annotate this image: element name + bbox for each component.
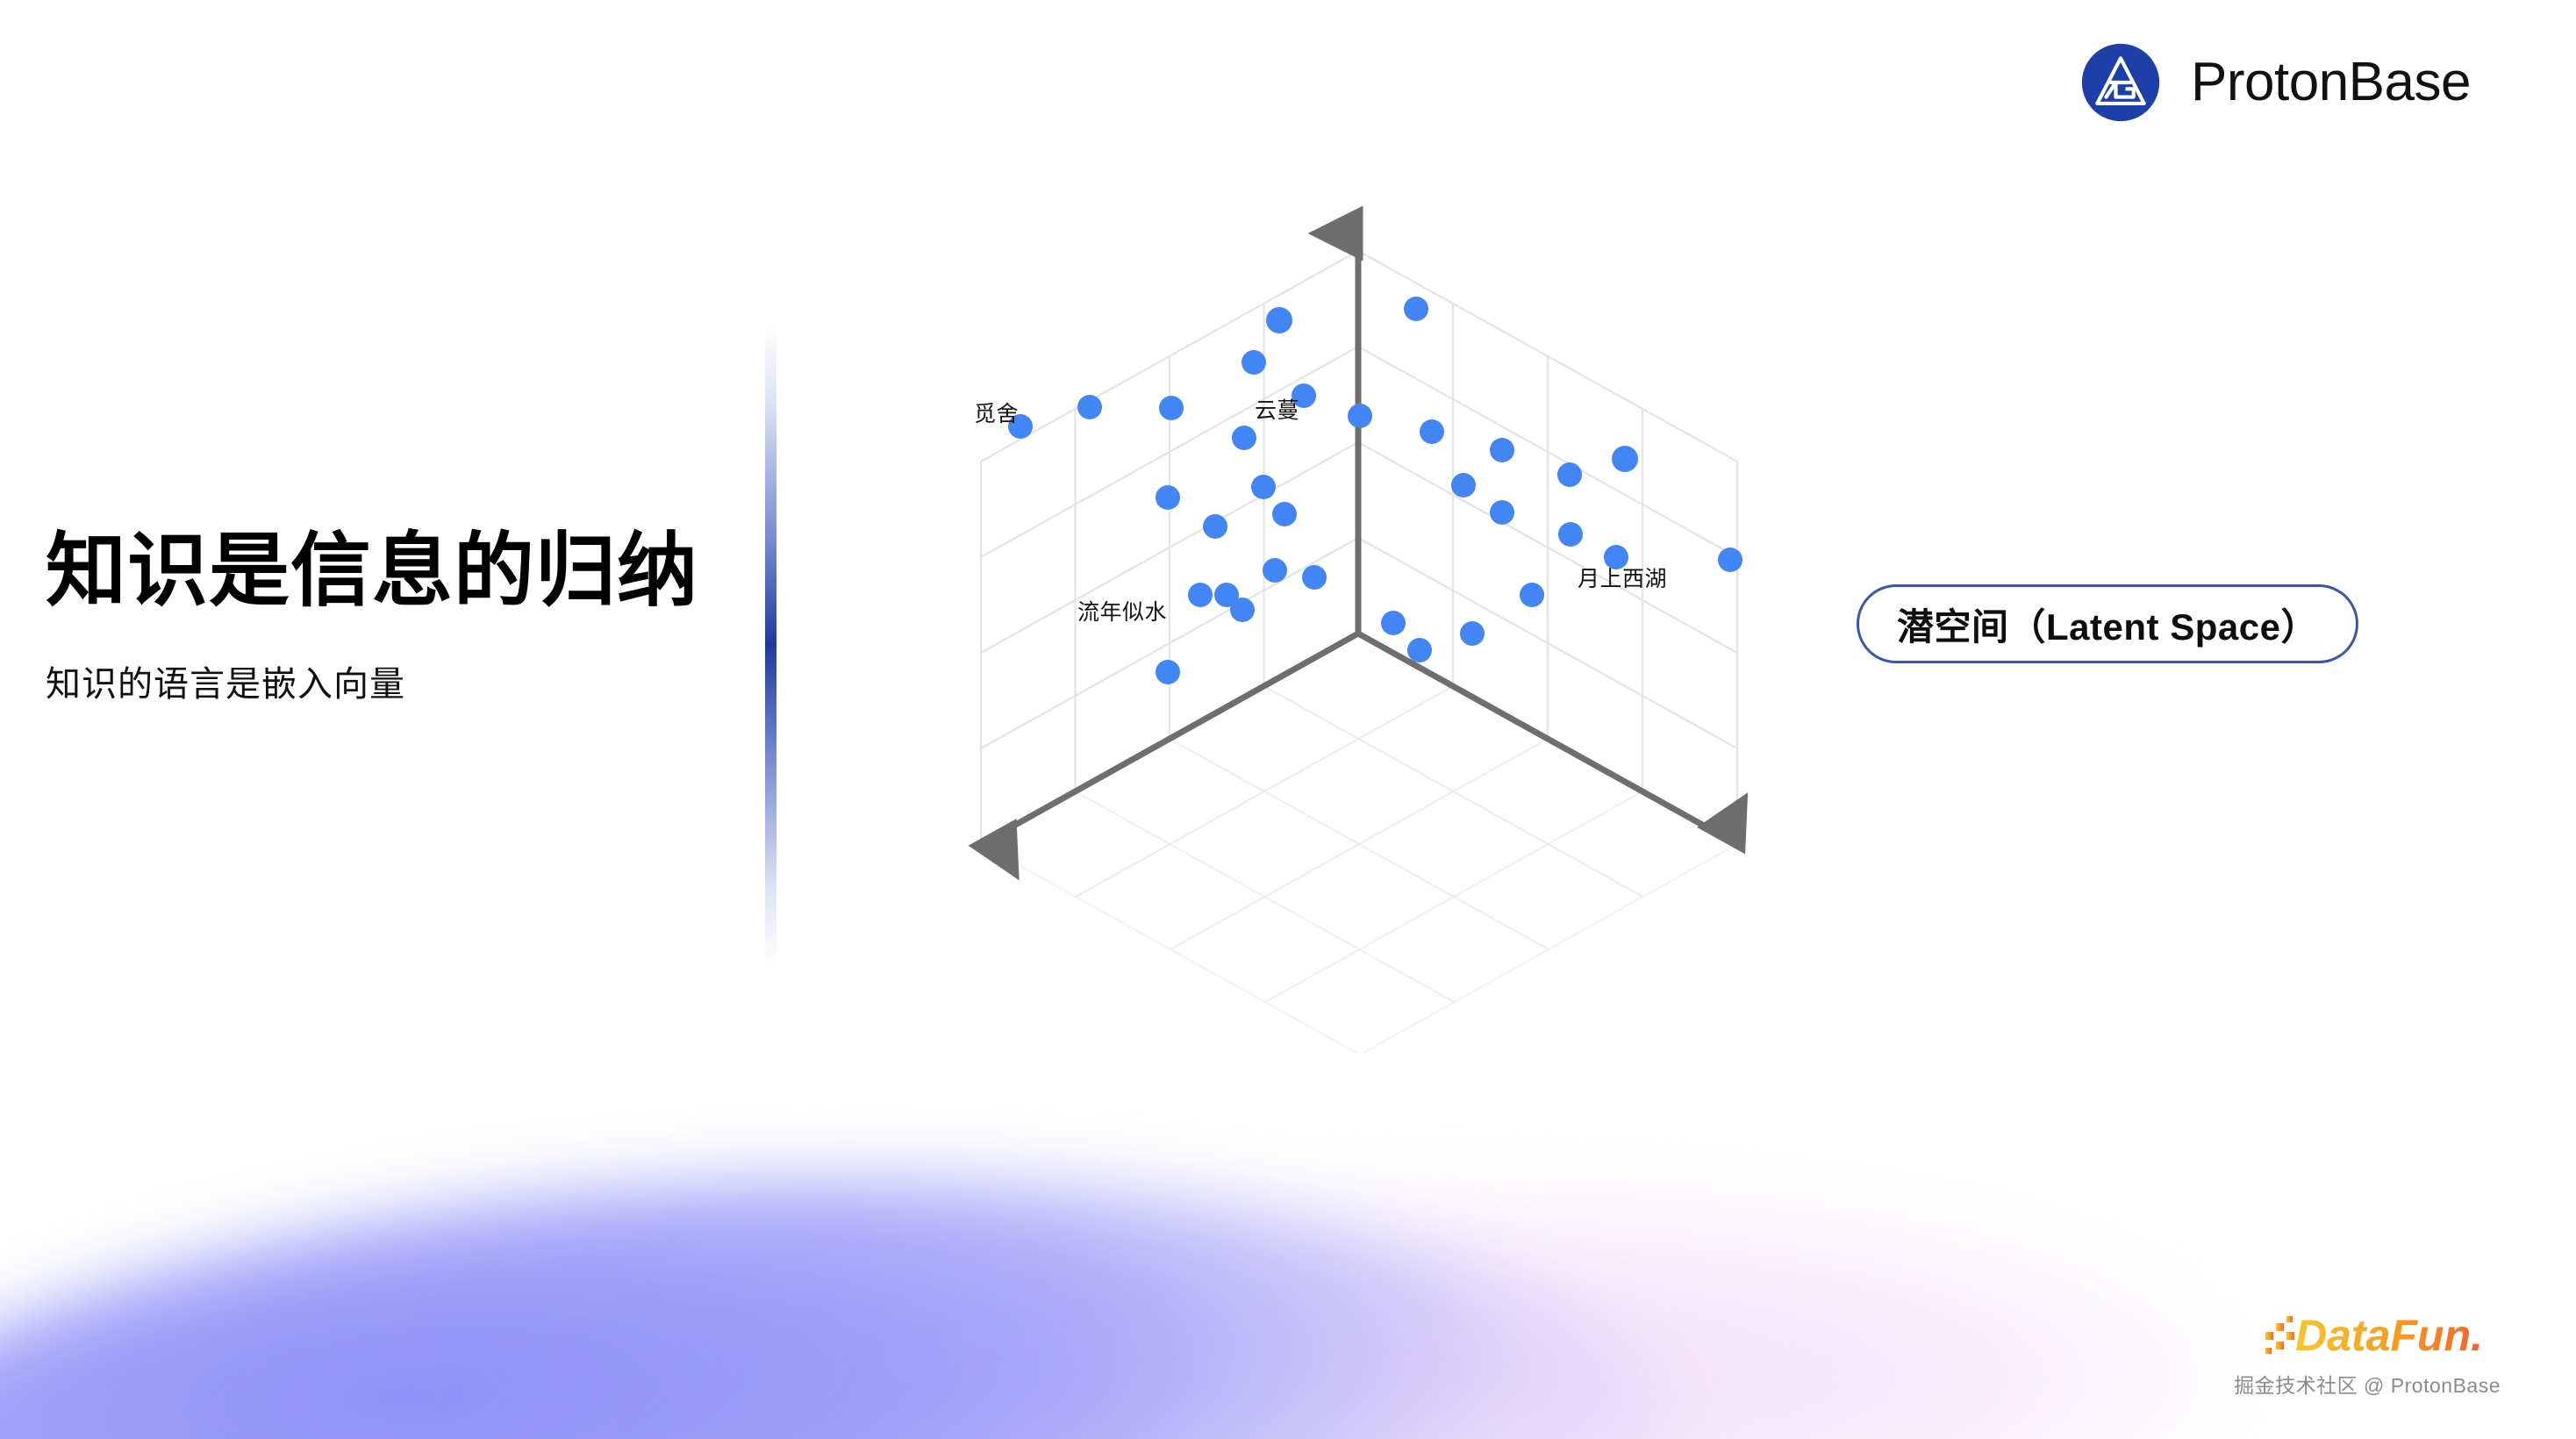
datafun-watermark: DataFun. 掘金技术社区 @ ProtonBase <box>2234 1309 2501 1399</box>
axes-group <box>995 233 1724 836</box>
scatter-point <box>1251 475 1276 499</box>
scatter-point <box>1420 419 1444 444</box>
datafun-logo-text: DataFun. <box>2295 1311 2483 1360</box>
latent-space-badge[interactable]: 潜空间（Latent Space） <box>1857 584 2358 663</box>
protonbase-triangle-logo-icon <box>2080 42 2161 123</box>
scatter-point <box>1557 462 1582 487</box>
cluster-label-1: 云蔓 <box>1255 393 1299 425</box>
scatter-point <box>1381 611 1406 635</box>
scatter-point <box>1230 598 1255 622</box>
brand-name: ProtonBase <box>2191 55 2471 110</box>
datafun-logo-icon: DataFun. <box>2264 1309 2501 1364</box>
bottom-gradient-decoration <box>0 1070 2576 1439</box>
scatter-svg <box>912 175 1807 1053</box>
scatter-point <box>1203 514 1227 539</box>
scatter-point <box>1460 621 1485 646</box>
scatter-point <box>1718 548 1742 572</box>
pink-haze-shape <box>684 1193 2220 1439</box>
scatter-point <box>1156 485 1180 510</box>
scatter-point <box>1404 297 1428 321</box>
headline-block: 知识是信息的归纳 知识的语言是嵌入向量 <box>46 526 739 706</box>
scatter-point <box>1490 500 1514 525</box>
cluster-label-0: 觅舍 <box>974 397 1019 428</box>
grid-floor <box>981 686 1737 1053</box>
accent-bar <box>765 325 776 965</box>
scatter-point <box>1558 522 1583 547</box>
scatter-point <box>1302 565 1327 590</box>
scatter-point <box>1232 426 1256 450</box>
latent-space-scatter-figure: 觅舍 云蔓 流年似水 月上西湖 <box>912 175 1807 1053</box>
axis-y <box>1358 634 1723 836</box>
scatter-point <box>1188 583 1213 607</box>
grid-left-wall <box>981 251 1358 844</box>
blue-wave-shape <box>0 1118 1684 1439</box>
slide-root: ProtonBase 知识是信息的归纳 知识的语言是嵌入向量 潜空间（Laten… <box>0 0 2576 1439</box>
scatter-point <box>1159 396 1184 420</box>
scatter-point <box>1077 395 1102 419</box>
scatter-point <box>1156 660 1180 684</box>
scatter-point <box>1263 558 1287 583</box>
scatter-point <box>1348 404 1372 428</box>
cluster-label-3: 月上西湖 <box>1578 562 1667 593</box>
watermark-subtitle: 掘金技术社区 @ ProtonBase <box>2234 1369 2501 1399</box>
scatter-point <box>1241 350 1266 375</box>
lilac-haze-shape <box>158 1211 1386 1439</box>
grid-right-wall <box>1358 251 1737 844</box>
latent-space-badge-label: 潜空间（Latent Space） <box>1897 598 2318 651</box>
page-subtitle: 知识的语言是嵌入向量 <box>46 655 739 706</box>
scatter-point <box>1490 438 1514 462</box>
scatter-point <box>1272 502 1297 526</box>
scatter-point <box>1612 446 1638 472</box>
scatter-point <box>1451 473 1476 498</box>
scatter-point <box>1520 583 1544 607</box>
cluster-label-2: 流年似水 <box>1077 595 1167 626</box>
scatter-point <box>1266 307 1292 333</box>
scatter-point <box>1407 638 1432 662</box>
brand-logo: ProtonBase <box>2080 42 2471 123</box>
page-title: 知识是信息的归纳 <box>46 526 739 617</box>
